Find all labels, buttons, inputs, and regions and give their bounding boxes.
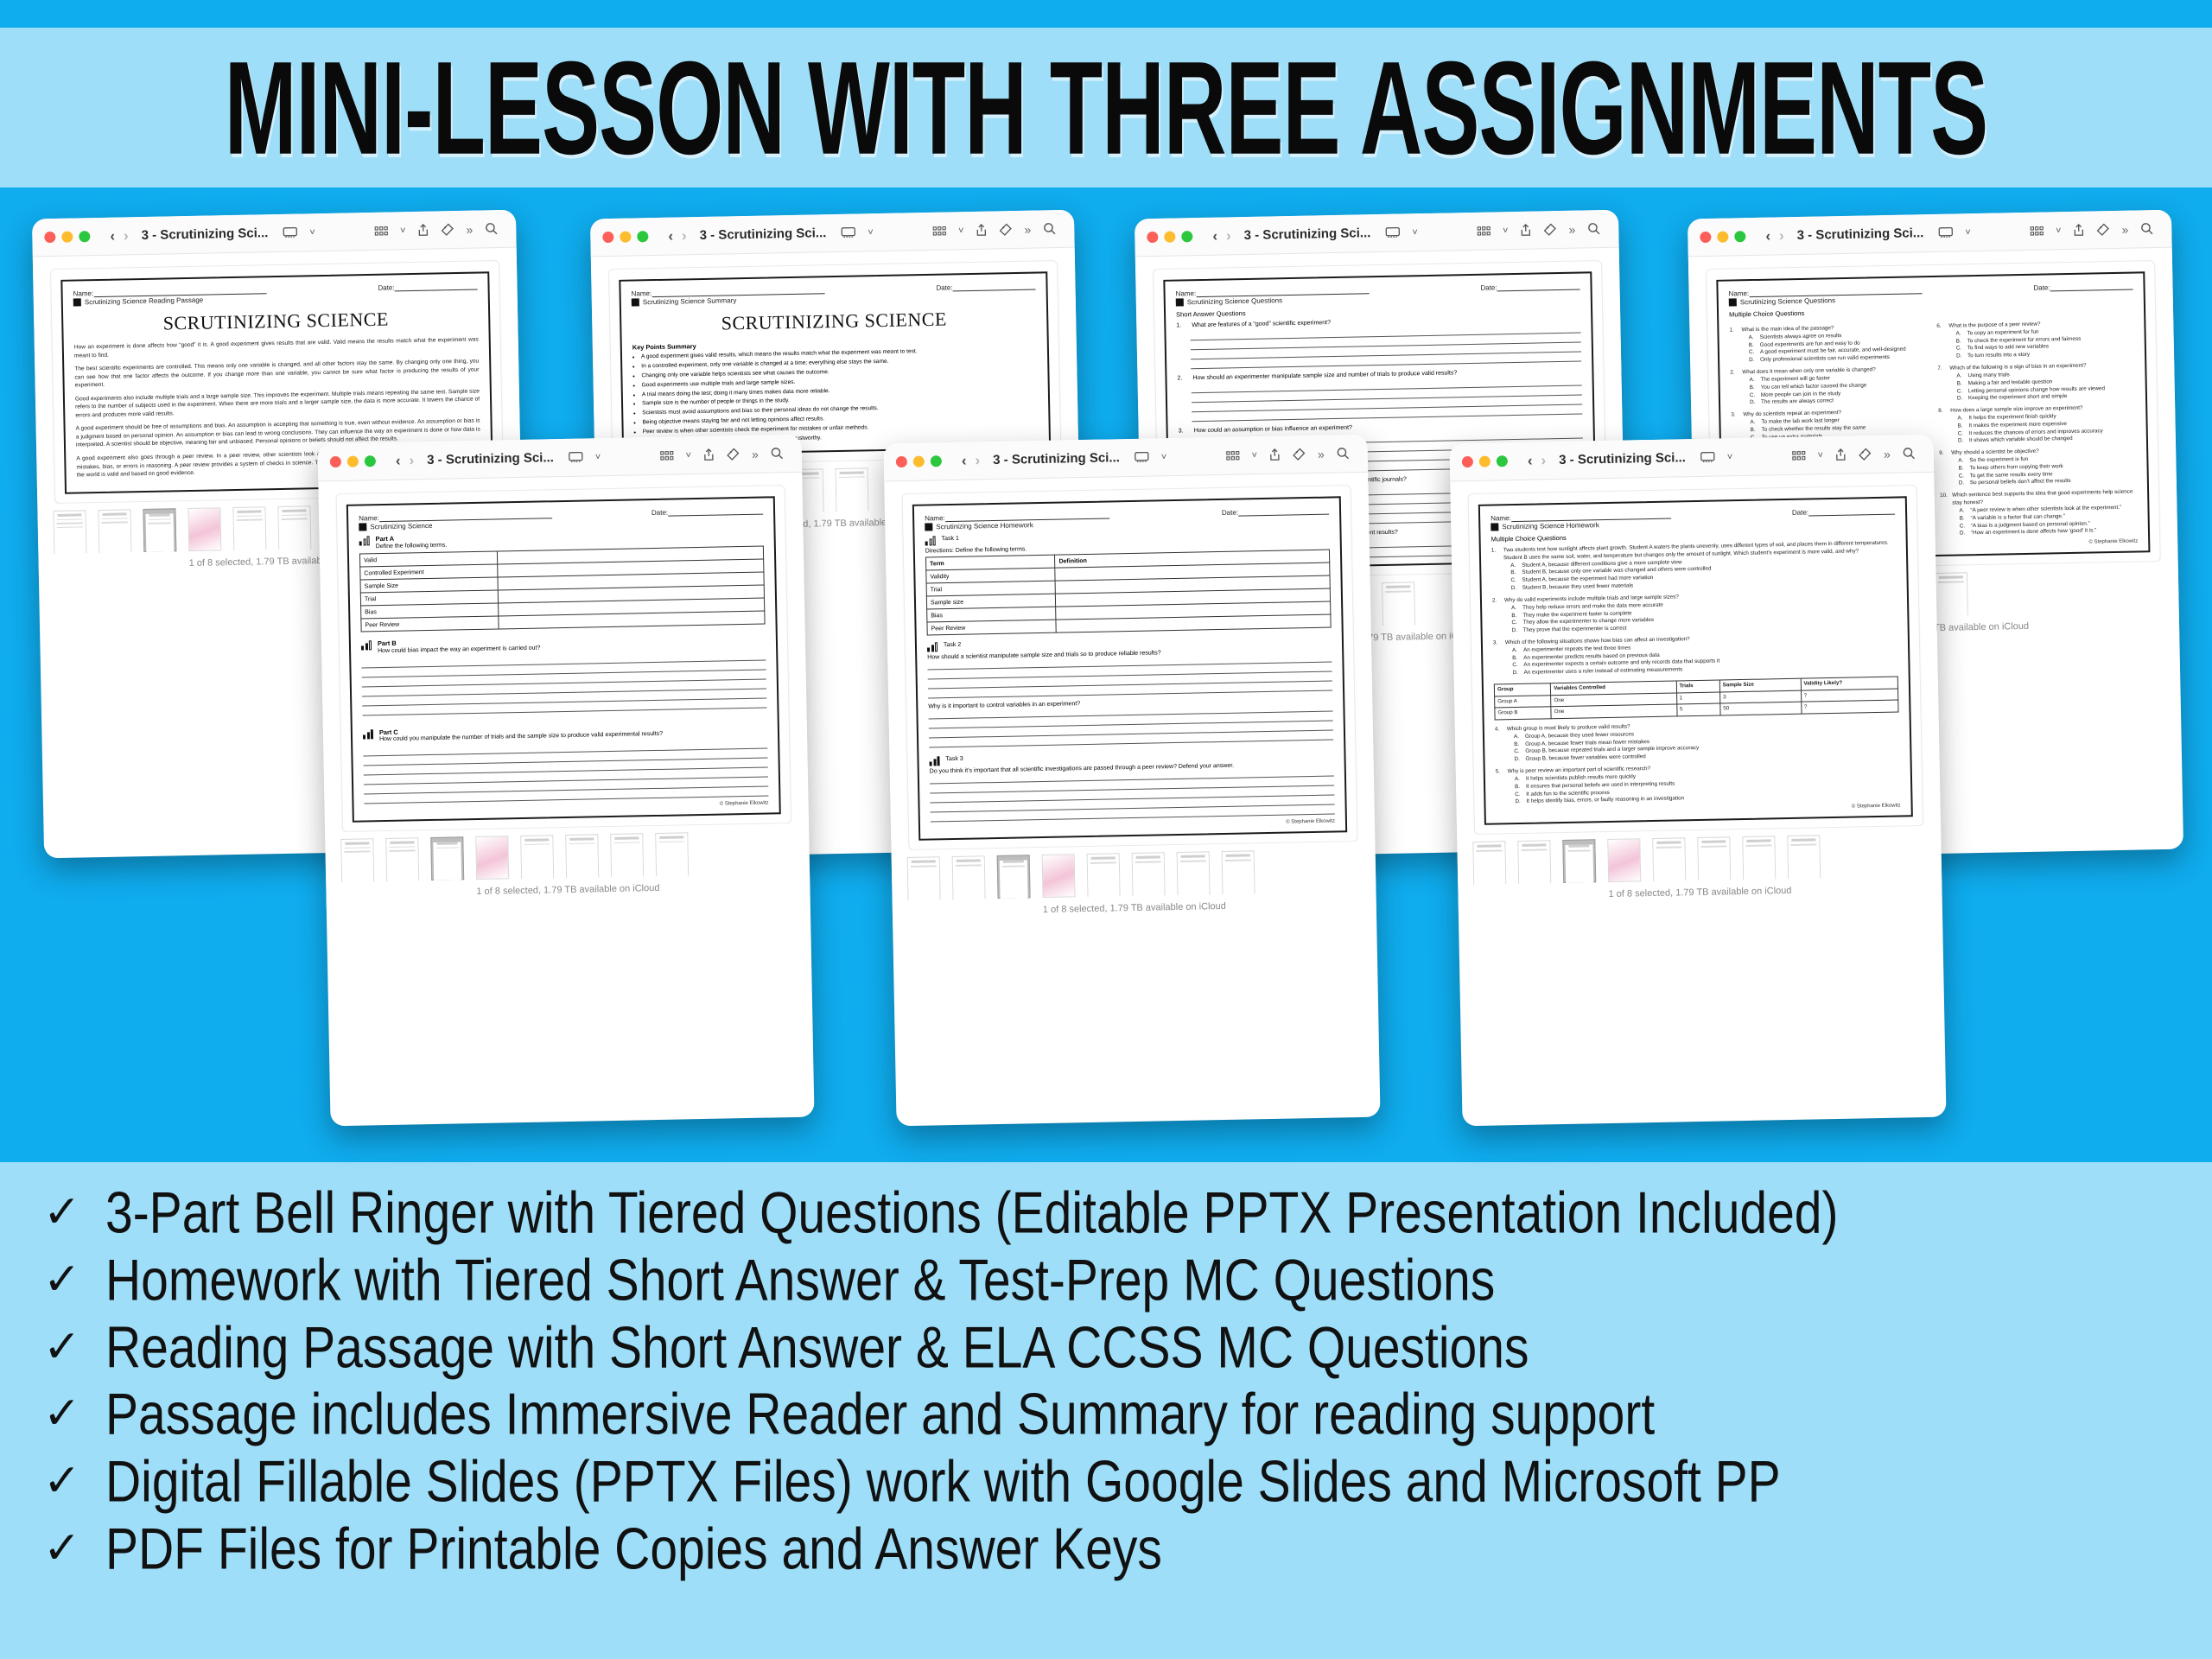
maximize-icon[interactable]: [1734, 231, 1745, 242]
window-title: 3 - Scrutinizing Sci...: [700, 226, 827, 243]
forward-arrow-icon[interactable]: ›: [409, 452, 414, 469]
answer-lines[interactable]: [349, 739, 768, 804]
square-bullet-icon: [925, 523, 932, 531]
chevron-updown-icon[interactable]: ˅: [1412, 227, 1418, 238]
question-number: 1.: [1729, 327, 1738, 334]
name-label: Name:: [1176, 289, 1197, 297]
view-mode-icon[interactable]: [841, 227, 855, 238]
feature-item: ✓ Passage includes Immersive Reader and …: [43, 1384, 2169, 1443]
window-title: 3 - Scrutinizing Sci...: [1797, 226, 1924, 243]
date-label: Date:: [378, 283, 394, 291]
col-group: Group: [1494, 683, 1551, 696]
question-number: 3.: [1179, 428, 1188, 434]
question-text: What are features of a “good” scientific…: [1192, 320, 1331, 328]
bar-chart-icon: [929, 756, 939, 766]
mc-options: A.Group A, because they used fewer resou…: [1514, 726, 1900, 764]
preview-area: Name: Date: Scrutinizing Science Homewor…: [1450, 473, 1941, 836]
preview-area: Name: Date: Scrutinizing Science Part A …: [318, 473, 809, 832]
feature-text: Passage includes Immersive Reader and Su…: [105, 1379, 1655, 1448]
group-by-icon[interactable]: [374, 226, 388, 236]
bar-chart-icon: [359, 536, 370, 545]
subhead-text: Scrutinizing Science Questions: [1187, 296, 1282, 306]
back-arrow-icon[interactable]: ‹: [668, 227, 673, 245]
window-title: 3 - Scrutinizing Sci...: [1559, 450, 1686, 467]
document-card: Name: Date: Scrutinizing Science Homewor…: [902, 485, 1358, 850]
subhead-text: Scrutinizing Science: [370, 522, 432, 531]
more-actions-icon[interactable]: »: [466, 222, 473, 236]
back-arrow-icon[interactable]: ‹: [110, 227, 115, 245]
file-thumbnail[interactable]: [1382, 582, 1415, 626]
close-icon[interactable]: [1700, 232, 1711, 243]
check-icon: ✓: [43, 1452, 105, 1503]
more-actions-icon[interactable]: »: [1024, 222, 1031, 236]
more-actions-icon[interactable]: »: [752, 447, 759, 461]
name-label: Name:: [1729, 289, 1750, 297]
group-by-icon[interactable]: [932, 226, 946, 236]
forward-arrow-icon[interactable]: ›: [124, 227, 129, 245]
mc-column-right: 6.What is the purpose of a peer review? …: [1936, 315, 2138, 538]
feature-text: Reading Passage with Short Answer & ELA …: [105, 1313, 1529, 1382]
name-label: Name:: [359, 514, 379, 522]
feature-item: ✓ Digital Fillable Slides (PPTX Files) w…: [43, 1452, 2169, 1510]
tag-icon[interactable]: [1543, 223, 1556, 236]
cell: Group A: [1495, 695, 1552, 708]
traffic-lights[interactable]: [602, 231, 648, 243]
more-actions-icon[interactable]: »: [1884, 447, 1891, 461]
back-arrow-icon[interactable]: ‹: [396, 452, 401, 469]
date-blank: [2050, 283, 2133, 292]
check-icon: ✓: [43, 1183, 105, 1235]
chevron-updown-icon[interactable]: ˅: [868, 227, 874, 238]
file-thumbnail[interactable]: [565, 834, 599, 878]
chevron-down-icon[interactable]: ˅: [1503, 226, 1509, 236]
mc-options: A.It helps the experiment finish quickly…: [1957, 411, 2136, 445]
maximize-icon[interactable]: [365, 455, 376, 467]
cell: 5: [1676, 703, 1720, 716]
finder-window-homework-mc[interactable]: ‹ › 3 - Scrutinizing Sci... ˅ ˅ » Name: …: [1449, 435, 1946, 1127]
group-by-icon[interactable]: [2030, 226, 2044, 236]
document-card: Name: Date: Scrutinizing Science Part A …: [336, 485, 791, 832]
worksheet-page: Name: Date: Scrutinizing Science Homewor…: [912, 496, 1347, 840]
feature-text: Digital Fillable Slides (PPTX Files) wor…: [105, 1446, 1781, 1516]
bar-chart-icon: [925, 536, 936, 545]
view-mode-icon[interactable]: [1135, 452, 1149, 463]
date-label: Date:: [1480, 283, 1497, 291]
traffic-lights[interactable]: [44, 231, 90, 243]
feature-text: Homework with Tiered Short Answer & Test…: [105, 1245, 1495, 1314]
file-thumbnail-selected[interactable]: [997, 855, 1031, 899]
question-number: 1.: [1491, 547, 1500, 563]
task-label: Task 3: [945, 756, 963, 764]
document-heading: SCRUTINIZING SCIENCE: [632, 307, 1036, 337]
square-bullet-icon: [632, 298, 639, 306]
question-text: How could an assumption or bias influenc…: [1194, 425, 1352, 435]
part-directions: Define the following terms.: [376, 542, 448, 550]
forward-arrow-icon[interactable]: ›: [1541, 452, 1546, 469]
preview-area: Name: Date: Scrutinizing Science Homewor…: [884, 473, 1375, 851]
file-thumbnail[interactable]: [1607, 838, 1641, 882]
file-thumbnail[interactable]: [1517, 840, 1551, 884]
search-icon[interactable]: [771, 447, 784, 460]
tag-icon[interactable]: [2096, 223, 2109, 236]
back-arrow-icon[interactable]: ‹: [1765, 227, 1770, 245]
square-bullet-icon: [1491, 523, 1498, 531]
passage-paragraph: How an experiment is done affects how “g…: [74, 336, 479, 360]
name-label: Name:: [1491, 514, 1511, 522]
feature-list: ✓ 3-Part Bell Ringer with Tiered Questio…: [0, 1162, 2212, 1659]
term-cell: Peer Review: [361, 616, 499, 632]
bar-chart-icon: [363, 729, 373, 739]
task-label: Task 1: [942, 536, 959, 543]
name-label: Name:: [73, 289, 94, 297]
feature-text: 3-Part Bell Ringer with Tiered Questions…: [105, 1178, 1839, 1247]
answer-lines[interactable]: [913, 653, 1332, 699]
worksheet-page: Name: Date: Scrutinizing Science Homewor…: [1478, 496, 1913, 825]
traffic-lights[interactable]: [1147, 231, 1192, 243]
mc-options: A.It helps scientists publish results mo…: [1515, 768, 1901, 806]
forward-arrow-icon[interactable]: ›: [682, 227, 687, 245]
file-thumbnail[interactable]: [1697, 836, 1731, 880]
chevron-down-icon[interactable]: ˅: [2056, 226, 2062, 236]
file-thumbnail[interactable]: [1087, 853, 1121, 897]
toolbar-spacer: [1977, 231, 2024, 232]
subhead-text: Scrutinizing Science Homework: [936, 521, 1033, 531]
subhead-text: Scrutinizing Science Homework: [1502, 521, 1599, 531]
subhead-text: Scrutinizing Science Questions: [1740, 296, 1835, 306]
file-thumbnail[interactable]: [1222, 850, 1255, 894]
bar-chart-icon: [361, 641, 372, 651]
tag-icon[interactable]: [441, 223, 454, 236]
square-bullet-icon: [359, 523, 366, 531]
mc-options: A.So the experiment is fun B.To keep oth…: [1958, 454, 2137, 488]
window-title: 3 - Scrutinizing Sci...: [1244, 226, 1371, 243]
thumbnail-strip[interactable]: [325, 823, 810, 884]
passage-paragraph: The best scientific experiments are cont…: [74, 358, 479, 391]
file-thumbnail[interactable]: [1935, 572, 1968, 616]
file-thumbnail[interactable]: [1652, 837, 1686, 881]
question-number: 10.: [1940, 493, 1948, 508]
subhead-text: Scrutinizing Science Summary: [643, 296, 737, 306]
file-thumbnail[interactable]: [188, 507, 221, 551]
file-thumbnail-selected[interactable]: [143, 508, 176, 552]
minimize-icon[interactable]: [620, 232, 631, 243]
answer-lines: [1178, 377, 1583, 423]
task-label: Task 2: [944, 642, 961, 650]
close-icon[interactable]: [1147, 232, 1158, 243]
date-blank: [1808, 507, 1895, 517]
close-icon[interactable]: [1462, 456, 1473, 467]
close-icon[interactable]: [896, 456, 907, 467]
chevron-down-icon[interactable]: ˅: [400, 226, 406, 236]
question-number: 3.: [1731, 411, 1739, 419]
group-by-icon[interactable]: [1225, 450, 1239, 461]
mc-options: A.An experimenter repeats the test three…: [1512, 639, 1898, 677]
key-points-list: A good experiment gives valid results, w…: [641, 346, 1039, 447]
file-thumbnail[interactable]: [610, 833, 644, 877]
thumbnail-strip[interactable]: [892, 842, 1376, 903]
question-number: 4.: [1495, 726, 1503, 734]
file-thumbnail[interactable]: [53, 510, 86, 554]
file-thumbnail-selected[interactable]: [430, 836, 464, 880]
document-heading: SCRUTINIZING SCIENCE: [73, 307, 478, 337]
close-icon[interactable]: [602, 232, 613, 243]
more-actions-icon[interactable]: »: [1568, 222, 1575, 236]
check-icon: ✓: [43, 1384, 105, 1436]
check-icon: ✓: [43, 1318, 105, 1370]
chevron-down-icon[interactable]: ˅: [685, 450, 691, 461]
cell: 1: [1676, 692, 1720, 705]
close-icon[interactable]: [330, 456, 341, 467]
view-mode-icon[interactable]: [1938, 227, 1953, 238]
share-icon[interactable]: [976, 224, 987, 237]
forward-arrow-icon[interactable]: ›: [1226, 227, 1231, 245]
subhead-text: Scrutinizing Science Reading Passage: [85, 296, 204, 307]
cell: ?: [1801, 700, 1898, 714]
tag-icon[interactable]: [999, 223, 1012, 236]
window-title: 3 - Scrutinizing Sci...: [142, 226, 269, 243]
file-thumbnail[interactable]: [655, 832, 689, 876]
question-number: 2.: [1730, 369, 1738, 377]
search-icon[interactable]: [1903, 447, 1916, 460]
search-icon[interactable]: [485, 222, 498, 235]
question-number: 9.: [1939, 450, 1948, 458]
minimize-icon[interactable]: [1479, 456, 1491, 467]
view-mode-icon[interactable]: [1385, 227, 1400, 238]
chevron-updown-icon[interactable]: ˅: [1161, 452, 1167, 462]
file-thumbnail[interactable]: [1042, 854, 1076, 898]
file-thumbnail[interactable]: [952, 855, 986, 899]
minimize-icon[interactable]: [913, 456, 925, 467]
name-label: Name:: [632, 289, 652, 297]
document-card: Name: Date: Scrutinizing Science Homewor…: [1468, 485, 1923, 835]
share-icon[interactable]: [417, 224, 429, 237]
chevron-updown-icon[interactable]: ˅: [1727, 452, 1733, 462]
search-icon[interactable]: [1337, 447, 1350, 460]
question-number: 2.: [1177, 375, 1186, 381]
file-thumbnail[interactable]: [277, 505, 311, 550]
file-thumbnail[interactable]: [1177, 851, 1211, 895]
share-icon[interactable]: [1520, 224, 1531, 237]
toolbar-spacer: [321, 231, 368, 232]
tag-icon[interactable]: [1859, 448, 1872, 461]
mc-options: A.“A peer review is when other scientist…: [1959, 504, 2138, 537]
toolbar-spacer: [607, 455, 653, 456]
chevron-down-icon[interactable]: ˅: [958, 226, 964, 236]
date-label: Date:: [1222, 509, 1238, 517]
top-color-strip: [0, 0, 2212, 28]
cell: One: [1551, 704, 1676, 718]
share-icon[interactable]: [703, 448, 715, 461]
question-number: 3.: [1493, 639, 1502, 647]
worksheet-page: Name: Date: Scrutinizing Science Part A …: [346, 496, 781, 822]
toolbar-spacer: [1173, 455, 1219, 456]
file-thumbnail-selected[interactable]: [1562, 839, 1596, 883]
feature-item: ✓ Homework with Tiered Short Answer & Te…: [43, 1250, 2169, 1309]
mc-options: A.Scientists always agree on results B.G…: [1749, 331, 1928, 365]
mc-options: A.The experiment will go faster B.You ca…: [1749, 373, 1928, 407]
answer-lines[interactable]: [916, 767, 1335, 823]
toolbar-spacer: [880, 231, 926, 232]
preview-area: Name: Date: Scrutinizing Science Summary…: [591, 248, 1079, 467]
back-arrow-icon[interactable]: ‹: [1528, 452, 1533, 469]
file-thumbnail[interactable]: [232, 506, 266, 550]
file-thumbnail[interactable]: [907, 856, 941, 900]
feature-text: PDF Files for Printable Copies and Answe…: [105, 1514, 1162, 1583]
file-thumbnail[interactable]: [836, 467, 869, 512]
date-label: Date:: [1792, 508, 1808, 516]
file-thumbnail[interactable]: [1742, 836, 1776, 880]
group-by-icon[interactable]: [1791, 450, 1805, 461]
mc-options: A.Using many trials B.Making a fair and …: [1956, 369, 2135, 403]
more-actions-icon[interactable]: »: [2121, 222, 2128, 236]
question-number: 2.: [1492, 597, 1501, 605]
maximize-icon[interactable]: [637, 231, 648, 242]
group-by-icon[interactable]: [1477, 226, 1491, 236]
chevron-updown-icon[interactable]: ˅: [595, 452, 601, 462]
search-icon[interactable]: [1043, 222, 1056, 235]
search-icon[interactable]: [1587, 222, 1600, 235]
chevron-updown-icon[interactable]: ˅: [1965, 227, 1971, 238]
mc-list: 1.Two students test how sunlight affects…: [1491, 540, 1901, 807]
term-cell: Peer Review: [927, 620, 1057, 635]
answer-lines: [1176, 324, 1581, 370]
answer-lines[interactable]: [914, 702, 1333, 748]
toolbar-spacer: [1738, 455, 1785, 456]
feature-item: ✓ Reading Passage with Short Answer & EL…: [43, 1318, 2169, 1376]
minimize-icon[interactable]: [1164, 232, 1175, 243]
square-bullet-icon: [1176, 298, 1184, 306]
close-icon[interactable]: [44, 232, 55, 243]
feature-item: ✓ 3-Part Bell Ringer with Tiered Questio…: [43, 1183, 2169, 1242]
view-mode-icon[interactable]: [569, 452, 583, 463]
date-label: Date:: [2033, 283, 2050, 291]
square-bullet-icon: [1729, 298, 1737, 306]
minimize-icon[interactable]: [1717, 232, 1728, 243]
definitions-table: TermDefinition Validity Trial Sample siz…: [925, 550, 1332, 636]
file-thumbnail[interactable]: [1472, 841, 1506, 885]
passage-paragraph: Good experiments also include multiple t…: [75, 387, 480, 420]
question-number: 8.: [1938, 408, 1947, 416]
search-icon[interactable]: [2140, 222, 2153, 235]
validity-table: Group Variables Controlled Trials Sample…: [1494, 677, 1899, 721]
bar-chart-icon: [927, 642, 938, 652]
name-label: Name:: [925, 514, 945, 522]
back-arrow-icon[interactable]: ‹: [1212, 227, 1217, 245]
worksheet-page: Name: Date: Scrutinizing Science Summary…: [619, 271, 1051, 455]
file-thumbnail[interactable]: [1132, 852, 1166, 896]
answer-lines[interactable]: [347, 651, 766, 715]
share-icon[interactable]: [1835, 448, 1847, 461]
view-mode-icon[interactable]: [1700, 452, 1715, 463]
forward-arrow-icon[interactable]: ›: [975, 452, 980, 469]
question-number: 7.: [1937, 365, 1946, 373]
document-card: Name: Date: Scrutinizing Science Summary…: [608, 260, 1061, 466]
date-blank: [952, 283, 1035, 292]
date-label: Date:: [652, 509, 668, 517]
file-thumbnail[interactable]: [520, 835, 554, 879]
question-number: 1.: [1176, 322, 1185, 328]
minimize-icon[interactable]: [347, 456, 359, 467]
page-title: MINI-LESSON WITH THREE ASSIGNMENTS: [225, 31, 1987, 185]
banner: MINI-LESSON WITH THREE ASSIGNMENTS: [0, 28, 2212, 188]
forward-arrow-icon[interactable]: ›: [1779, 227, 1784, 245]
maximize-icon[interactable]: [931, 455, 942, 467]
maximize-icon[interactable]: [1181, 231, 1192, 242]
file-thumbnail[interactable]: [475, 836, 509, 880]
tag-icon[interactable]: [1293, 448, 1306, 461]
share-icon[interactable]: [2073, 224, 2084, 237]
square-bullet-icon: [73, 298, 81, 306]
maximize-icon[interactable]: [1497, 455, 1508, 467]
traffic-lights[interactable]: [1700, 231, 1745, 243]
question-number: 6.: [1936, 323, 1945, 331]
col-trials: Trials: [1676, 680, 1720, 693]
date-blank: [1497, 283, 1580, 292]
file-thumbnail[interactable]: [1787, 835, 1821, 879]
traffic-lights[interactable]: [330, 455, 376, 467]
finder-window-homework[interactable]: ‹ › 3 - Scrutinizing Sci... ˅ ˅ » Name: …: [883, 435, 1380, 1127]
file-thumbnail[interactable]: [340, 838, 374, 882]
mc-options: A.To copy an experiment for fun B.To che…: [1955, 327, 2134, 360]
chevron-down-icon[interactable]: ˅: [1817, 450, 1823, 461]
question-number: 5.: [1496, 768, 1504, 776]
share-icon[interactable]: [1269, 448, 1281, 461]
file-thumbnail[interactable]: [98, 509, 131, 553]
date-blank: [394, 283, 477, 292]
window-title: 3 - Scrutinizing Sci...: [427, 450, 554, 467]
toolbar-spacer: [1424, 231, 1471, 232]
traffic-lights[interactable]: [896, 455, 942, 467]
minimize-icon[interactable]: [61, 232, 73, 243]
date-label: Date:: [936, 283, 952, 291]
chevron-down-icon[interactable]: ˅: [1251, 450, 1257, 461]
window-title: 3 - Scrutinizing Sci...: [993, 450, 1120, 467]
finder-window-bell-ringer[interactable]: ‹ › 3 - Scrutinizing Sci... ˅ ˅ » Name: …: [317, 435, 814, 1127]
feature-item: ✓ PDF Files for Printable Copies and Ans…: [43, 1519, 2169, 1578]
cell: Group B: [1495, 707, 1552, 720]
thumbnail-strip[interactable]: [1457, 826, 1942, 887]
maximize-icon[interactable]: [79, 231, 90, 242]
check-icon: ✓: [43, 1519, 105, 1571]
tag-icon[interactable]: [727, 448, 740, 461]
cell: 50: [1720, 702, 1802, 715]
back-arrow-icon[interactable]: ‹: [962, 452, 967, 469]
group-by-icon[interactable]: [659, 450, 673, 461]
more-actions-icon[interactable]: »: [1318, 447, 1325, 461]
chevron-updown-icon[interactable]: ˅: [309, 227, 315, 238]
mc-options: A.They help reduce errors and make the d…: [1511, 597, 1897, 635]
traffic-lights[interactable]: [1462, 455, 1508, 467]
view-mode-icon[interactable]: [283, 227, 297, 238]
mc-options: A.Student A, because different condition…: [1510, 555, 1897, 593]
check-icon: ✓: [43, 1250, 105, 1302]
file-thumbnail[interactable]: [385, 837, 419, 881]
definitions-table: Valid Controlled Experiment Sample Size …: [359, 546, 766, 632]
